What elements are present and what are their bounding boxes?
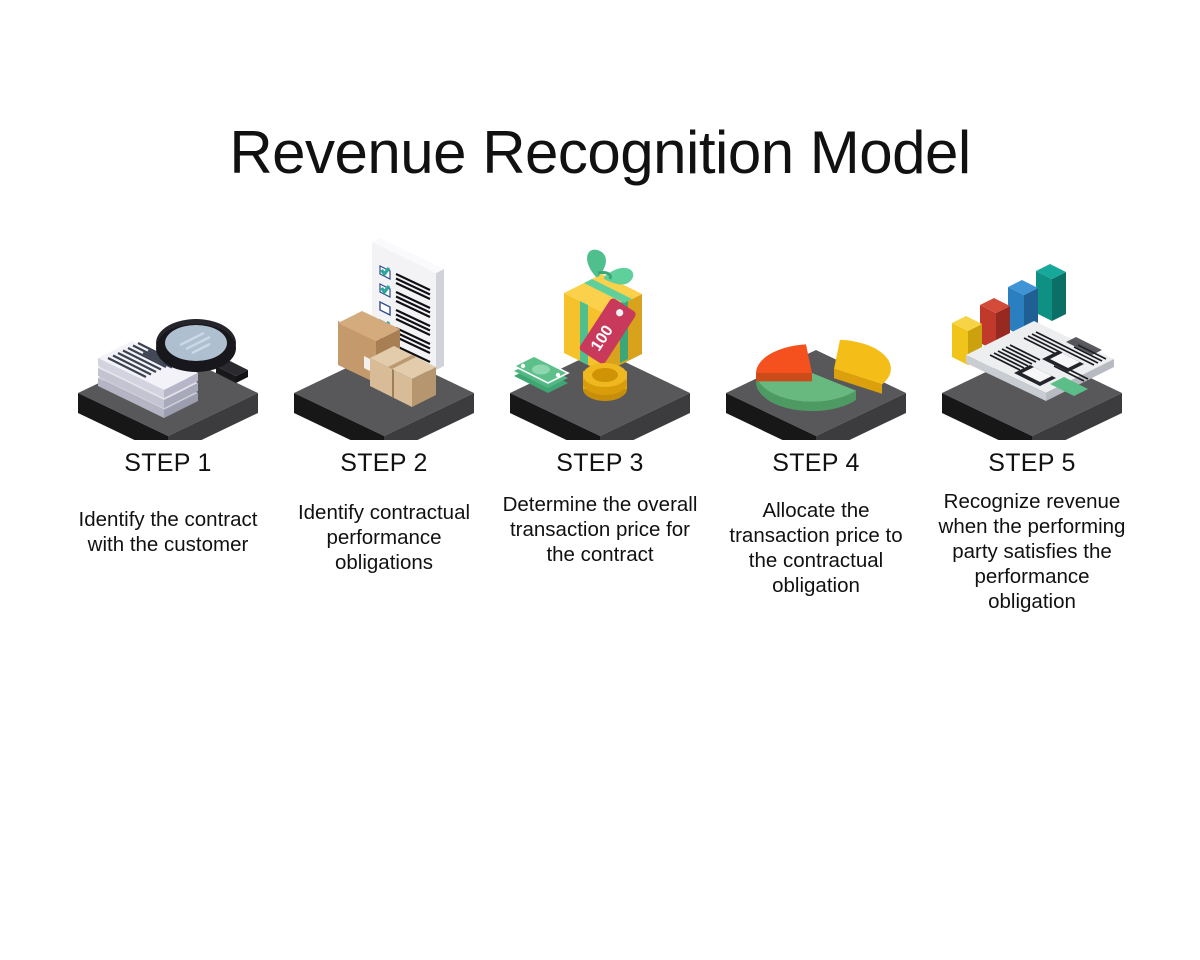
step-3-description: Determine the overall transaction price …: [500, 492, 700, 567]
step-item-2: STEP 2 Identify contractual performance …: [276, 225, 492, 575]
step-3-illustration: 100: [492, 225, 708, 440]
step-5-label: STEP 5: [988, 449, 1076, 478]
step-item-1: STEP 1 Identify the contract with the cu…: [60, 225, 276, 557]
gift-money-pricetag-icon: 100: [492, 225, 708, 440]
boxes-checklist-icon: [276, 225, 492, 440]
step-4-label: STEP 4: [772, 449, 860, 478]
step-3-label: STEP 3: [556, 449, 644, 478]
step-4-description: Allocate the transaction price to the co…: [719, 498, 914, 598]
step-1-illustration: [60, 225, 276, 440]
step-1-description: Identify the contract with the customer: [71, 507, 266, 557]
steps-row: STEP 1 Identify the contract with the cu…: [0, 225, 1200, 614]
pie-chart-icon: [708, 225, 924, 440]
step-4-illustration: [708, 225, 924, 440]
step-5-illustration: [924, 225, 1140, 440]
step-item-5: STEP 5 Recognize revenue when the perfor…: [924, 225, 1140, 614]
bar-chart-report-icon: [924, 225, 1140, 440]
page-title: Revenue Recognition Model: [0, 118, 1200, 187]
documents-magnifier-icon: [60, 225, 276, 440]
step-item-4: STEP 4 Allocate the transaction price to…: [708, 225, 924, 598]
coin-stack: [583, 363, 627, 401]
step-item-3: 100: [492, 225, 708, 567]
step-2-description: Identify contractual performance obligat…: [287, 500, 482, 575]
step-2-illustration: [276, 225, 492, 440]
step-5-description: Recognize revenue when the performing pa…: [932, 489, 1132, 614]
step-1-label: STEP 1: [124, 449, 212, 478]
step-2-label: STEP 2: [340, 449, 428, 478]
